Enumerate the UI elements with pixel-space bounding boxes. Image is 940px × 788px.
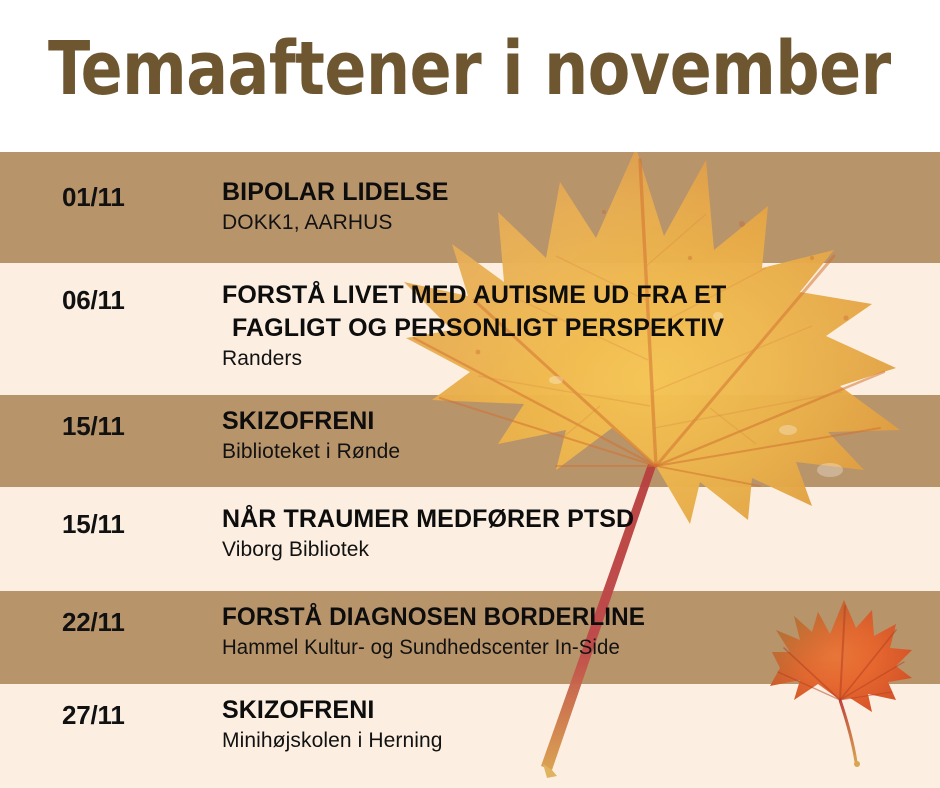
event-venue: Hammel Kultur- og Sundhedscenter In-Side <box>222 634 901 662</box>
event-body: FORSTÅ DIAGNOSEN BORDERLINE Hammel Kultu… <box>222 601 922 662</box>
event-title: SKIZOFRENI <box>222 405 922 438</box>
event-date: 15/11 <box>62 509 125 540</box>
list-item[interactable]: 15/11 SKIZOFRENI Biblioteket i Rønde <box>0 395 940 487</box>
event-title: FORSTÅ DIAGNOSEN BORDERLINE <box>222 601 901 634</box>
event-title: BIPOLAR LIDELSE <box>222 176 922 209</box>
list-item[interactable]: 22/11 FORSTÅ DIAGNOSEN BORDERLINE Hammel… <box>0 591 940 684</box>
event-date: 27/11 <box>62 700 125 731</box>
event-date: 15/11 <box>62 411 125 442</box>
page-title: Temaaftener i november <box>48 26 891 112</box>
event-venue: Viborg Bibliotek <box>222 536 922 564</box>
event-body: NÅR TRAUMER MEDFØRER PTSD Viborg Bibliot… <box>222 503 922 564</box>
event-title: NÅR TRAUMER MEDFØRER PTSD <box>222 503 922 536</box>
event-body: SKIZOFRENI Minihøjskolen i Herning <box>222 694 922 755</box>
event-title: FORSTÅ LIVET MED AUTISME UD FRA ET <box>222 279 922 312</box>
poster-canvas: Temaaftener i november 01/11 BIPOLAR LID… <box>0 0 940 788</box>
event-venue: Biblioteket i Rønde <box>222 438 922 466</box>
event-title: SKIZOFRENI <box>222 694 922 727</box>
event-venue: Randers <box>222 345 922 373</box>
list-item[interactable]: 01/11 BIPOLAR LIDELSE DOKK1, AARHUS <box>0 152 940 263</box>
event-venue: Minihøjskolen i Herning <box>222 727 922 755</box>
event-date: 22/11 <box>62 607 125 638</box>
event-body: BIPOLAR LIDELSE DOKK1, AARHUS <box>222 176 922 237</box>
list-item[interactable]: 27/11 SKIZOFRENI Minihøjskolen i Herning <box>0 684 940 788</box>
event-title-line2: FAGLIGT OG PERSONLIGT PERSPEKTIV <box>232 312 724 345</box>
poster-header: Temaaftener i november <box>0 0 940 152</box>
list-item[interactable]: 06/11 FORSTÅ LIVET MED AUTISME UD FRA ET… <box>0 263 940 395</box>
event-body: FORSTÅ LIVET MED AUTISME UD FRA ET FAGLI… <box>222 279 922 373</box>
event-date: 01/11 <box>62 182 125 213</box>
event-venue: DOKK1, AARHUS <box>222 209 922 237</box>
event-body: SKIZOFRENI Biblioteket i Rønde <box>222 405 922 466</box>
event-date: 06/11 <box>62 285 125 316</box>
list-item[interactable]: 15/11 NÅR TRAUMER MEDFØRER PTSD Viborg B… <box>0 487 940 591</box>
